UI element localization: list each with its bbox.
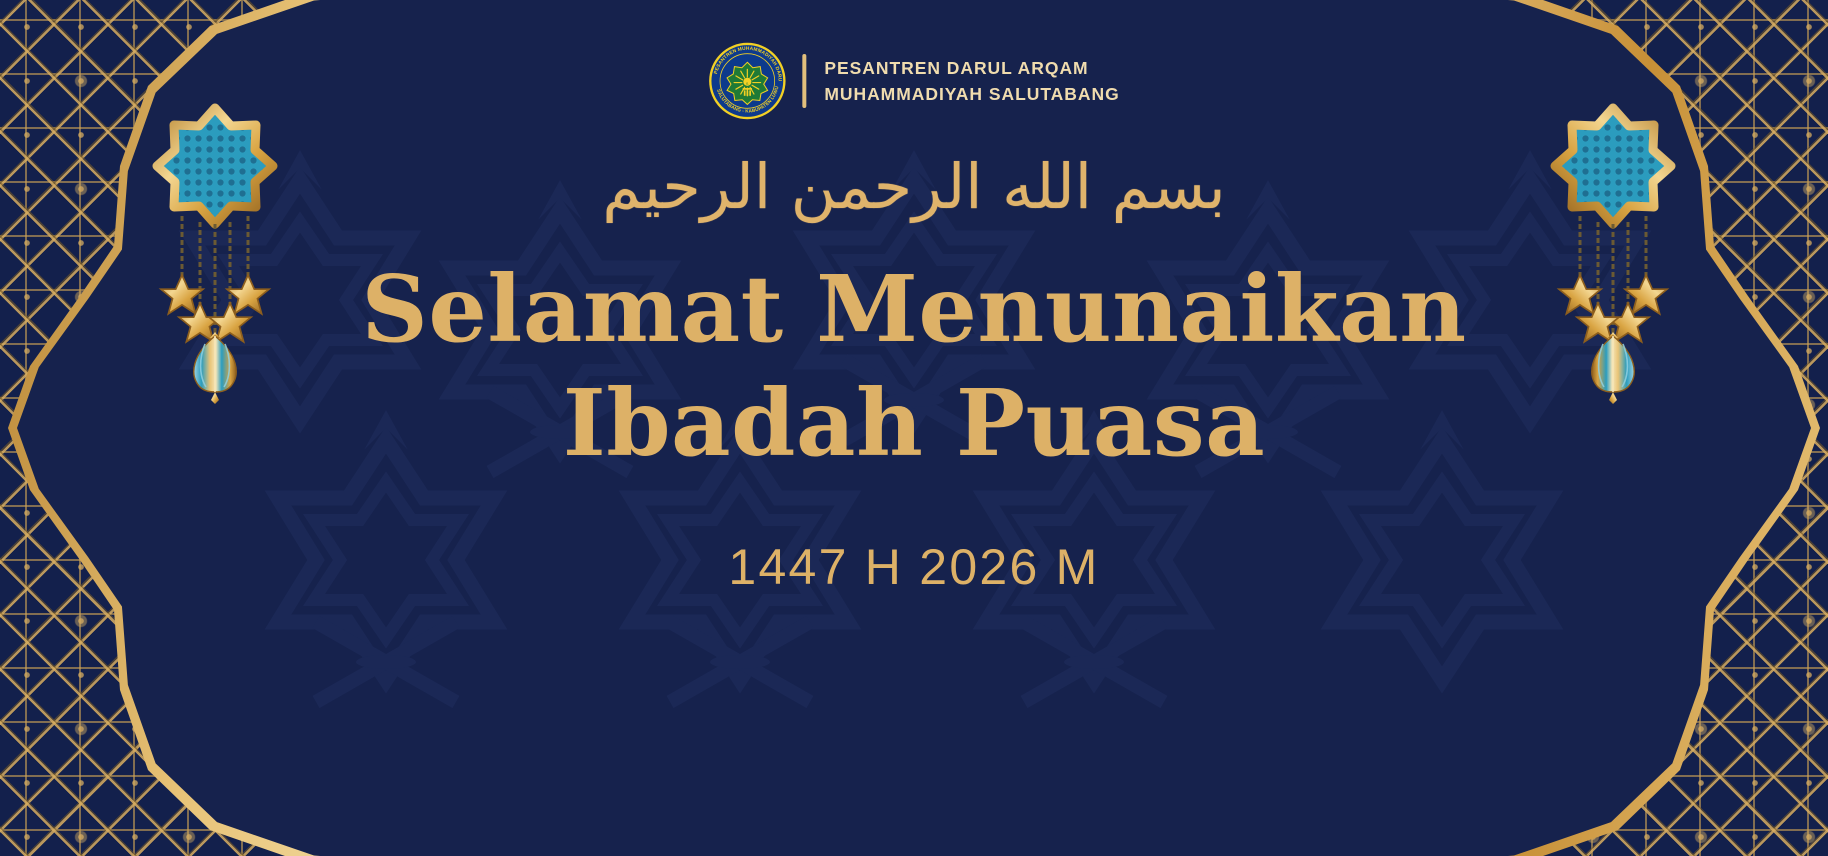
- muhammadiyah-seal-icon: PESANTREN MUHAMMADIYAH DARUL ARQAM SALUT…: [708, 42, 786, 120]
- organization-name: PESANTREN DARUL ARQAM MUHAMMADIYAH SALUT…: [824, 57, 1119, 105]
- hanging-star-lantern-ornament-right: [1518, 104, 1708, 404]
- org-name-line-2: MUHAMMADIYAH SALUTABANG: [824, 83, 1119, 105]
- org-name-line-1: PESANTREN DARUL ARQAM: [824, 57, 1119, 79]
- organization-header: PESANTREN MUHAMMADIYAH DARUL ARQAM SALUT…: [708, 42, 1119, 120]
- onion-lantern: [194, 332, 236, 404]
- onion-lantern: [1592, 332, 1634, 404]
- eight-point-star: [157, 108, 273, 224]
- header-divider: [802, 54, 806, 108]
- eight-point-star: [1555, 108, 1671, 224]
- ramadan-greeting-banner: PESANTREN MUHAMMADIYAH DARUL ARQAM SALUT…: [0, 0, 1828, 856]
- hanging-star-lantern-ornament-left: [120, 104, 310, 404]
